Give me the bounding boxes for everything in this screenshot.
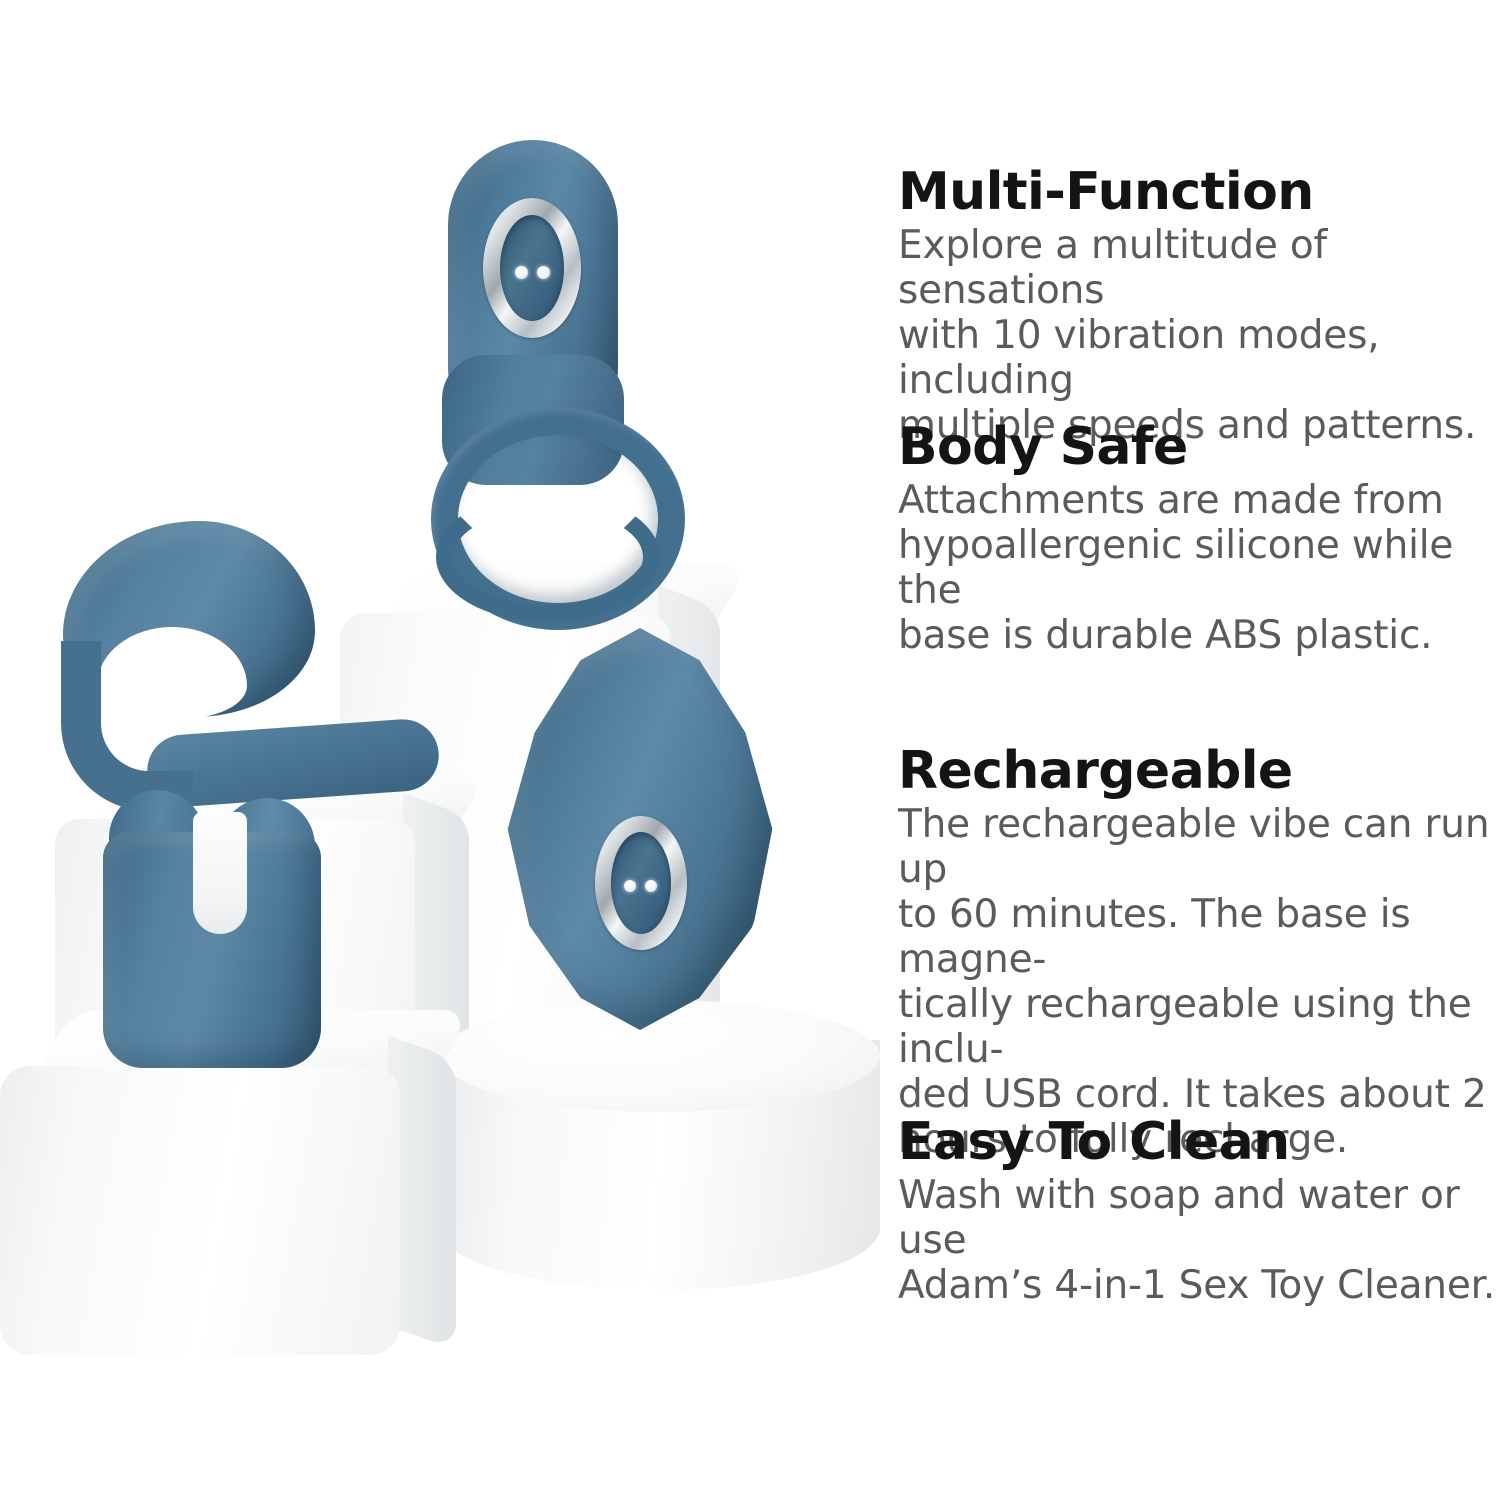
indicator-dot-one — [624, 880, 636, 892]
ring-secondary-loop — [436, 492, 660, 622]
feature-body: Explore a multitude of sensations with 1… — [898, 223, 1498, 448]
control-window-oval-icon — [483, 198, 581, 338]
control-window-inner — [611, 832, 671, 934]
feature-block-rechargeable: Rechargeable The rechargeable vibe can r… — [898, 742, 1498, 1162]
feature-block-multi-function: Multi-Function Explore a multitude of se… — [898, 163, 1498, 448]
control-window-oval-icon — [595, 816, 687, 950]
hook-arm — [61, 641, 193, 811]
pedestal-cylinder — [440, 1000, 880, 1325]
product-leaf-pad-attachment — [505, 628, 775, 1030]
feature-body: Wash with soap and water or use Adam’s 4… — [898, 1173, 1498, 1308]
feature-block-easy-to-clean: Easy To Clean Wash with soap and water o… — [898, 1113, 1498, 1308]
prong-center-gap — [193, 812, 247, 934]
feature-block-body-safe: Body Safe Attachments are made from hypo… — [898, 418, 1498, 658]
pedestal-front-face — [0, 1066, 400, 1355]
indicator-dot-two — [645, 880, 657, 892]
feature-title: Rechargeable — [898, 742, 1498, 800]
feature-list: Multi-Function Explore a multitude of se… — [898, 0, 1500, 1500]
feature-body: The rechargeable vibe can run up to 60 m… — [898, 802, 1498, 1162]
control-window-inner — [500, 215, 564, 321]
product-two-prong-attachment — [95, 790, 330, 1070]
indicator-dot-one — [515, 266, 528, 279]
product-image-panel — [0, 0, 890, 1500]
feature-title: Easy To Clean — [898, 1113, 1498, 1171]
feature-body: Attachments are made from hypoallergenic… — [898, 478, 1498, 658]
product-curved-hook-attachment — [55, 515, 455, 815]
feature-title: Multi-Function — [898, 163, 1498, 221]
feature-title: Body Safe — [898, 418, 1498, 476]
indicator-dot-two — [537, 266, 550, 279]
product-feature-graphic: Multi-Function Explore a multitude of se… — [0, 0, 1500, 1500]
